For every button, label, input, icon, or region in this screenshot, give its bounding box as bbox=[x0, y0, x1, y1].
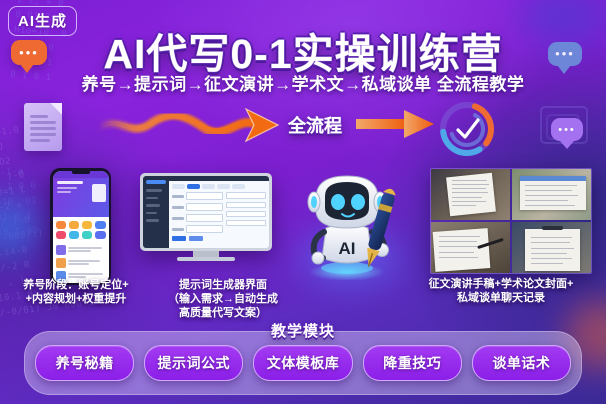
document-icon bbox=[24, 103, 62, 151]
app-sidebar bbox=[143, 176, 169, 248]
module-pill-5[interactable]: 谈单话术 bbox=[472, 345, 571, 381]
phone-screen bbox=[53, 171, 109, 283]
module-pill-3[interactable]: 文体模板库 bbox=[253, 345, 352, 381]
phone-content-list bbox=[53, 243, 109, 283]
glow-decoration-left bbox=[0, 196, 38, 256]
ribbon-arrow-icon bbox=[96, 104, 296, 146]
app-top-bar bbox=[169, 176, 269, 181]
app-tab-strip bbox=[172, 184, 266, 189]
phone-mockup bbox=[50, 168, 111, 285]
module-pill-2[interactable]: 提示词公式 bbox=[144, 345, 243, 381]
phone-hero-card bbox=[92, 184, 106, 202]
document-fold-corner bbox=[50, 103, 62, 115]
flow-arrow-icon bbox=[356, 108, 436, 140]
phone-hero-banner bbox=[53, 178, 109, 217]
phone-app-grid bbox=[53, 217, 109, 244]
photo-gallery-grid bbox=[430, 168, 592, 274]
teaching-modules-list: 养号秘籍 提示词公式 文体模板库 降重技巧 谈单话术 bbox=[30, 345, 576, 381]
monitor-frame bbox=[140, 173, 272, 251]
chat-bubble-icon-purple: ••• bbox=[551, 118, 583, 141]
monitor-screen bbox=[143, 176, 269, 248]
robot-chest-label: AI bbox=[339, 239, 356, 258]
photo-handheld-document bbox=[431, 169, 510, 220]
progress-donut-icon bbox=[436, 98, 498, 160]
app-main-panel bbox=[169, 176, 269, 248]
module-pill-1[interactable]: 养号秘籍 bbox=[35, 345, 134, 381]
photo-desk-papers bbox=[431, 222, 510, 273]
caption-monitor: 提示词生成器界面 （输入需求→自动生成 高质量代写文案） bbox=[148, 278, 298, 320]
poster-canvas: 0/0=1.0 b4O {-CO2 b4O )-0 O/O=1 L R0-2 +… bbox=[0, 0, 606, 404]
caption-photos: 征文演讲手稿+学术论文封面+ 私域谈单聊天记录 bbox=[398, 277, 604, 305]
phone-notch bbox=[72, 170, 90, 174]
poster-subheadline: 养号→提示词→征文演讲→学术文→私域谈单 全流程教学 bbox=[0, 70, 606, 95]
ai-robot-mascot: AI bbox=[292, 162, 402, 280]
flow-label: 全流程 bbox=[288, 112, 342, 138]
caption-phone: 养号阶段：账号定位+ +内容规划+权重提升 bbox=[2, 278, 150, 306]
photo-clipboard-checklist bbox=[512, 222, 591, 273]
app-form-area bbox=[172, 192, 266, 241]
teaching-modules-title: 教学模块 bbox=[0, 320, 606, 341]
module-pill-4[interactable]: 降重技巧 bbox=[363, 345, 462, 381]
photo-document-window bbox=[512, 169, 591, 220]
monitor-base bbox=[177, 257, 235, 261]
desktop-monitor-mockup bbox=[140, 173, 272, 261]
